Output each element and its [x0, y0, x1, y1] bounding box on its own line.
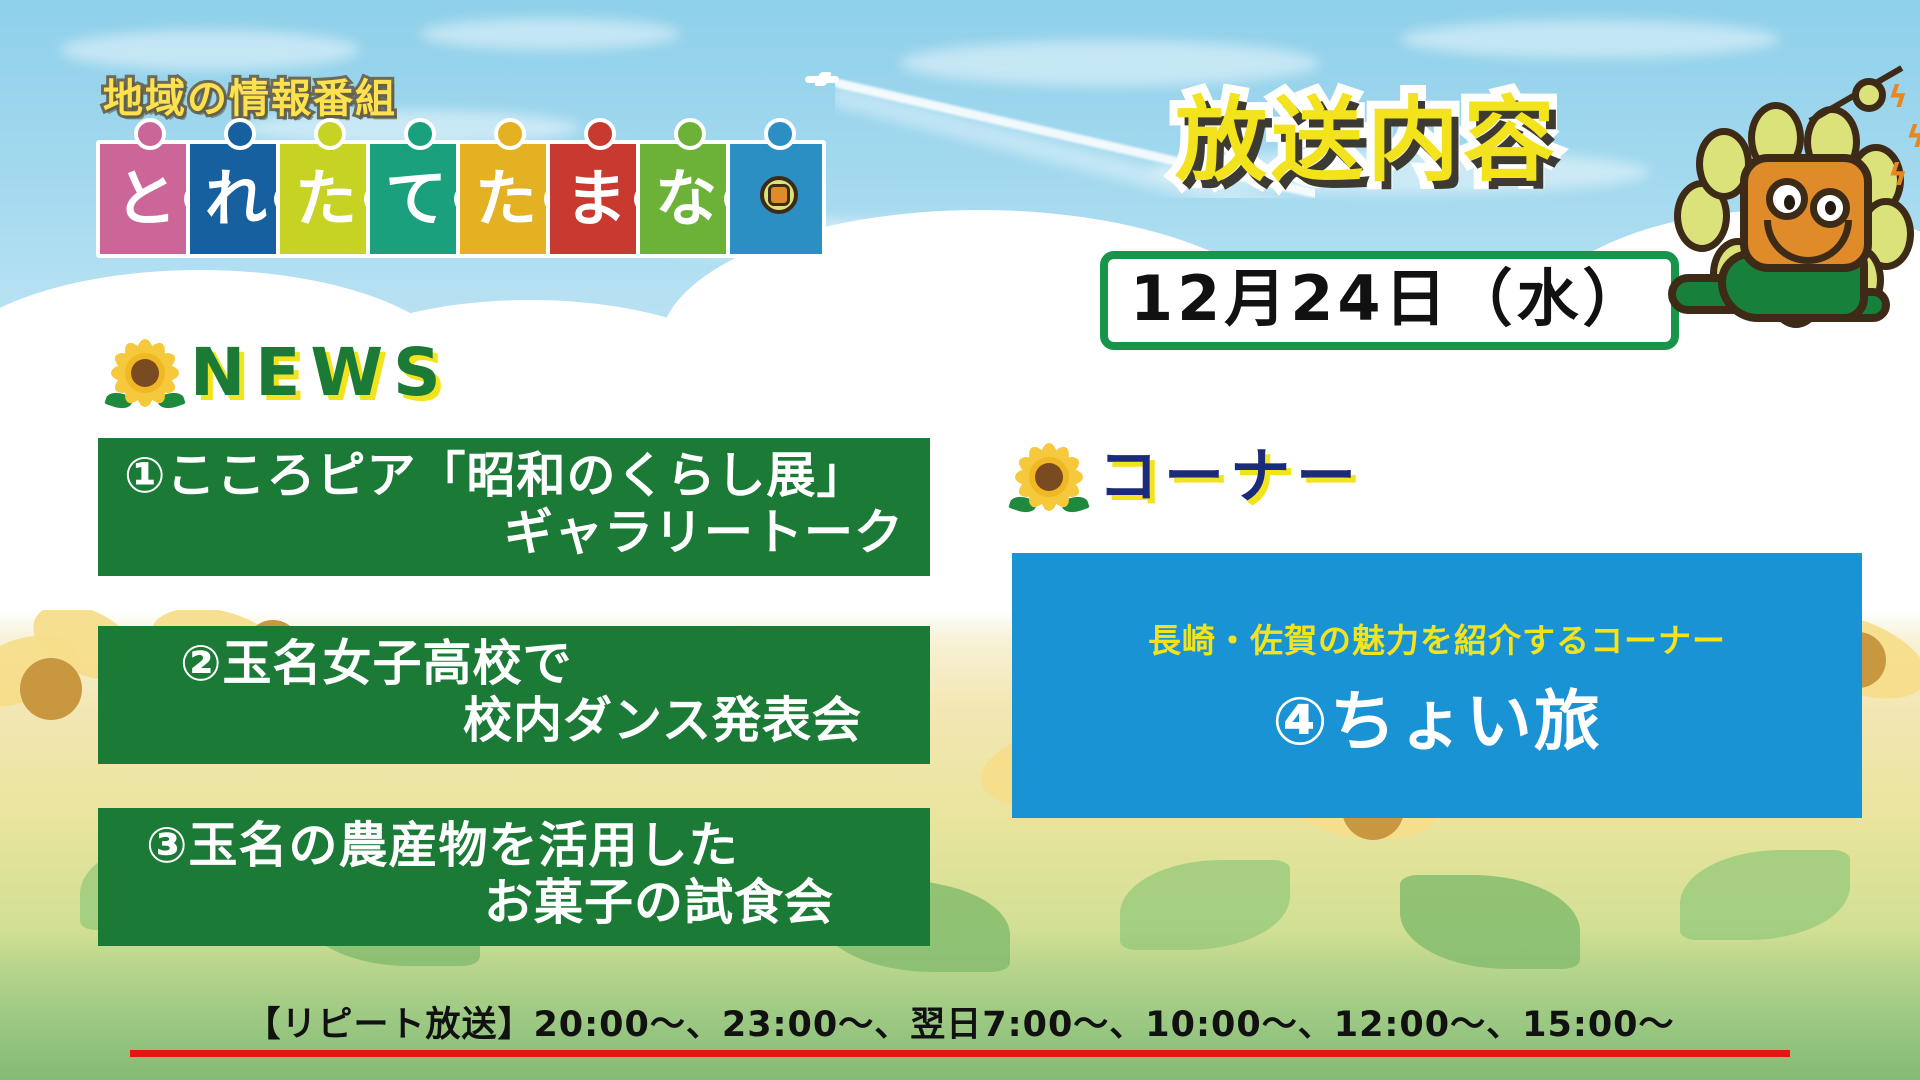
sunflower-mascot-icon: ϟ ϟ ϟ [1662, 92, 1918, 324]
logo-piece-7: な [636, 140, 736, 258]
broadcast-schedule-slide: 地域の情報番組 と れ た て た ま な [0, 0, 1920, 1080]
logo-piece-char: と [115, 168, 177, 230]
news-item-line: お菓子の試食会 [124, 875, 904, 932]
corner-heading: コーナー [1012, 440, 1362, 514]
program-kicker: 地域の情報番組 [103, 66, 397, 124]
logo-piece-2: れ [186, 140, 286, 258]
airplane-icon [805, 72, 839, 86]
corner-heading-label: コーナー [1098, 447, 1362, 507]
program-logo: と れ た て た ま な [96, 140, 786, 265]
logo-piece-char: ま [565, 168, 627, 230]
news-item-1[interactable]: ①こころピア「昭和のくらし展」 ギャラリートーク [98, 438, 930, 576]
news-item-line: 校内ダンス発表会 [124, 693, 904, 750]
logo-piece-char: た [475, 168, 537, 230]
logo-piece-3: た [276, 140, 376, 258]
logo-piece-char: な [655, 168, 717, 230]
news-item-line: ③玉名の農産物を活用した [124, 818, 904, 875]
logo-piece-5: た [456, 140, 556, 258]
repeat-broadcast-text: 【リピート放送】20:00～、23:00～、翌日7:00～、10:00～、12:… [0, 996, 1920, 1047]
logo-piece-char: て [385, 168, 447, 230]
corner-item[interactable]: 長崎・佐賀の魅力を紹介するコーナー ④ちょい旅 [1012, 553, 1862, 818]
footer-divider [130, 1050, 1790, 1057]
news-item-3[interactable]: ③玉名の農産物を活用した お菓子の試食会 [98, 808, 930, 946]
broadcast-date: 12月24日（水） [1130, 263, 1649, 334]
news-heading: NEWS [108, 336, 451, 410]
corner-subtitle: 長崎・佐賀の魅力を紹介するコーナー [1148, 614, 1726, 662]
logo-piece-1: と [96, 140, 196, 258]
corner-title: ④ちょい旅 [1272, 668, 1602, 764]
logo-piece-8-mascot [726, 140, 826, 258]
sunflower-icon [108, 336, 182, 410]
logo-piece-char: れ [205, 168, 267, 230]
news-item-line: ギャラリートーク [124, 505, 904, 562]
logo-piece-4: て [366, 140, 466, 258]
news-item-line: ①こころピア「昭和のくらし展」 [124, 448, 904, 505]
logo-piece-char: た [295, 168, 357, 230]
news-item-line: ②玉名女子高校で [124, 636, 904, 693]
logo-piece-6: ま [546, 140, 646, 258]
news-heading-label: NEWS [190, 340, 451, 406]
news-item-2[interactable]: ②玉名女子高校で 校内ダンス発表会 [98, 626, 930, 764]
broadcast-date-box: 12月24日（水） [1100, 251, 1679, 350]
sunflower-icon [1012, 440, 1086, 514]
broadcast-title: 放送内容 [1175, 95, 1559, 187]
